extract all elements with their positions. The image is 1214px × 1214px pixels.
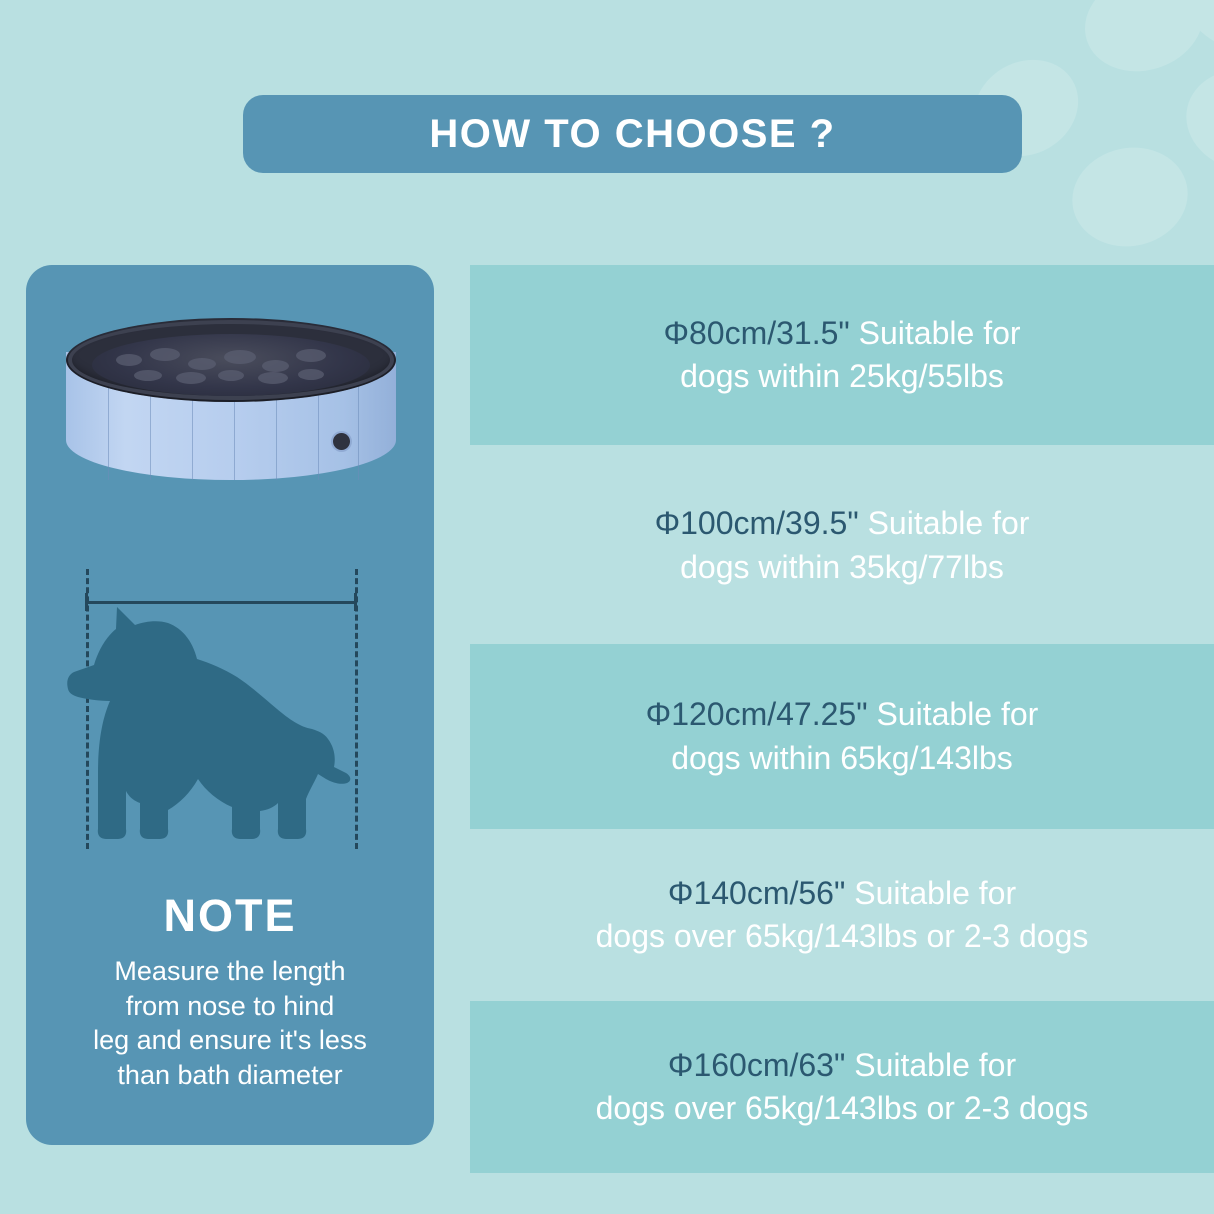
size-description: dogs within 25kg/55lbs <box>680 355 1004 398</box>
note-body-line: leg and ensure it's less <box>40 1023 420 1058</box>
size-dimension: Φ140cm/56" <box>668 875 845 911</box>
size-row-line-1: Φ80cm/31.5" Suitable for <box>663 312 1020 355</box>
size-row-line-1: Φ140cm/56" Suitable for <box>668 872 1016 915</box>
size-suitable-label: Suitable for <box>859 505 1030 541</box>
size-suitable-label: Suitable for <box>845 1047 1016 1083</box>
dog-silhouette-icon <box>60 603 390 853</box>
size-row: Φ160cm/63" Suitable for dogs over 65kg/1… <box>470 1001 1214 1173</box>
size-row-line-1: Φ100cm/39.5" Suitable for <box>655 502 1030 545</box>
note-body-line: than bath diameter <box>40 1058 420 1093</box>
left-info-card: NOTE Measure the length from nose to hin… <box>26 265 434 1145</box>
drain-valve-icon <box>333 433 350 450</box>
size-dimension: Φ100cm/39.5" <box>655 505 859 541</box>
size-description: dogs over 65kg/143lbs or 2-3 dogs <box>596 915 1089 958</box>
size-suitable-label: Suitable for <box>845 875 1016 911</box>
header-banner: HOW TO CHOOSE ? <box>243 95 1022 173</box>
size-row: Φ80cm/31.5" Suitable for dogs within 25k… <box>470 265 1214 445</box>
size-suitable-label: Suitable for <box>850 315 1021 351</box>
page-title: HOW TO CHOOSE ? <box>429 112 835 157</box>
size-row: Φ140cm/56" Suitable for dogs over 65kg/1… <box>470 835 1214 995</box>
size-suitable-label: Suitable for <box>868 696 1039 732</box>
note-body-line: from nose to hind <box>40 989 420 1024</box>
row-gap <box>470 445 1214 453</box>
size-description: dogs within 35kg/77lbs <box>680 546 1004 589</box>
size-row: Φ120cm/47.25" Suitable for dogs within 6… <box>470 644 1214 829</box>
paw-pad-icon <box>1072 0 1214 86</box>
pet-pool-product-image <box>48 310 414 510</box>
size-description: dogs within 65kg/143lbs <box>671 737 1013 780</box>
note-heading: NOTE <box>40 890 420 942</box>
size-dimension: Φ160cm/63" <box>668 1047 845 1083</box>
dog-measurement-diagram <box>40 553 420 873</box>
size-row-line-1: Φ120cm/47.25" Suitable for <box>646 693 1039 736</box>
size-dimension: Φ120cm/47.25" <box>646 696 868 732</box>
paw-pad-icon <box>1162 0 1214 72</box>
size-options-list: Φ80cm/31.5" Suitable for dogs within 25k… <box>470 265 1214 1173</box>
size-dimension: Φ80cm/31.5" <box>663 315 849 351</box>
paw-pad-icon <box>1063 137 1197 257</box>
size-row-line-1: Φ160cm/63" Suitable for <box>668 1044 1016 1087</box>
note-block: NOTE Measure the length from nose to hin… <box>26 890 434 1092</box>
size-row: Φ100cm/39.5" Suitable for dogs within 35… <box>470 453 1214 638</box>
note-body-line: Measure the length <box>40 954 420 989</box>
paw-pad-icon <box>1177 59 1214 181</box>
size-description: dogs over 65kg/143lbs or 2-3 dogs <box>596 1087 1089 1130</box>
note-body: Measure the length from nose to hind leg… <box>40 954 420 1092</box>
pool-interior <box>92 334 370 396</box>
